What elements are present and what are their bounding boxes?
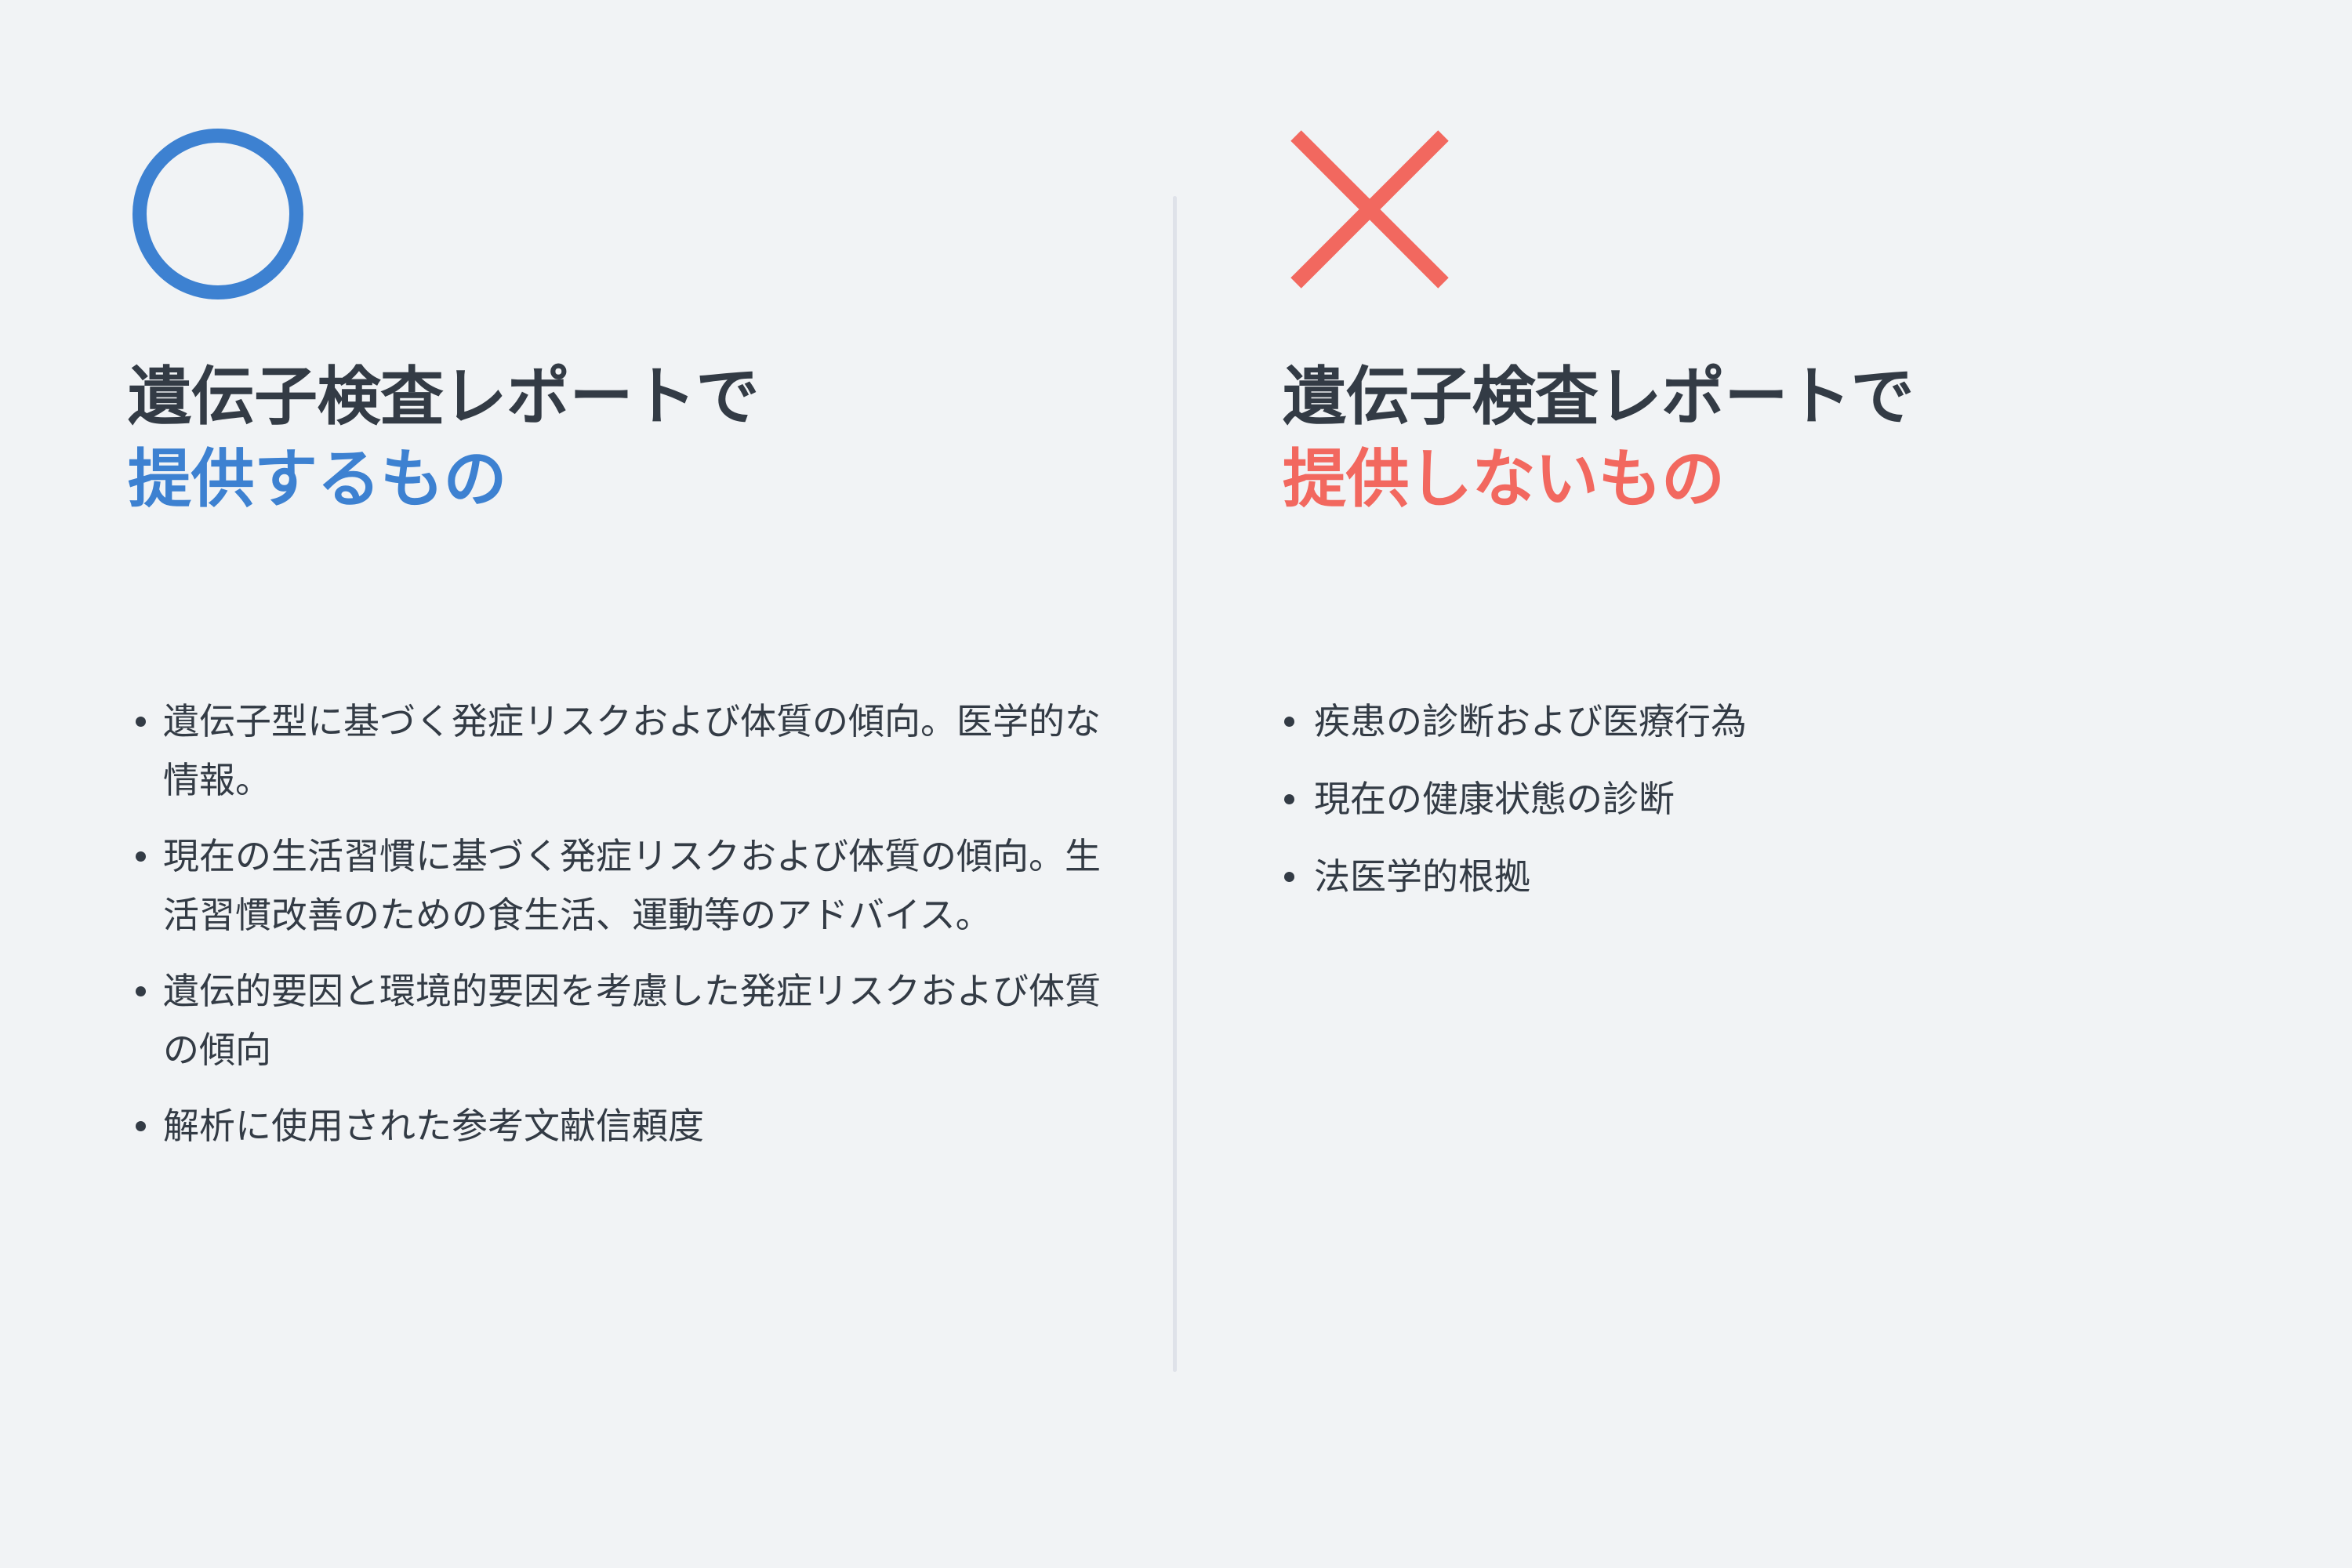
heading-line-accent-positive: 提供するもの (128, 439, 759, 521)
list-item: 遺伝子型に基づく発症リスクおよび体質の傾向。医学的な情報。 (125, 692, 1117, 810)
provided-items-list: 遺伝子型に基づく発症リスクおよび体質の傾向。医学的な情報。 現在の生活習慣に基づ… (125, 692, 1117, 1173)
column-divider (1173, 196, 1177, 1372)
heading-line-accent-negative: 提供しないもの (1283, 439, 1914, 521)
list-item: 疾患の診断および医療行為 (1278, 692, 2270, 751)
list-item-label: 現在の生活習慣に基づく発症リスクおよび体質の傾向。生活習慣改善のための食生活、運… (163, 827, 1117, 945)
circle-outline-icon (129, 125, 307, 303)
bullet-dot-icon (136, 986, 146, 996)
list-item-label: 法医学的根拠 (1314, 848, 2270, 906)
list-item: 現在の生活習慣に基づく発症リスクおよび体質の傾向。生活習慣改善のための食生活、運… (125, 827, 1117, 945)
list-item: 遺伝的要因と環境的要因を考慮した発症リスクおよび体質の傾向 (125, 962, 1117, 1080)
page-title-positive: 遺伝子検査レポートで 提供するもの (128, 357, 759, 522)
list-item-label: 解析に使用された参考文献信頼度 (163, 1097, 1117, 1156)
bullet-dot-icon (136, 851, 146, 862)
bullet-dot-icon (136, 1121, 146, 1131)
heading-line-primary-positive: 遺伝子検査レポートで (128, 357, 759, 439)
cross-x-icon (1286, 125, 1454, 293)
bullet-dot-icon (136, 717, 146, 727)
list-item-label: 遺伝子型に基づく発症リスクおよび体質の傾向。医学的な情報。 (163, 692, 1117, 810)
list-item: 解析に使用された参考文献信頼度 (125, 1097, 1117, 1156)
list-item-label: 遺伝的要因と環境的要因を考慮した発症リスクおよび体質の傾向 (163, 962, 1117, 1080)
bullet-dot-icon (1284, 717, 1294, 727)
list-item-label: 疾患の診断および医療行為 (1314, 692, 2270, 751)
page-title-negative: 遺伝子検査レポートで 提供しないもの (1283, 357, 1914, 522)
bullet-dot-icon (1284, 794, 1294, 804)
list-item-label: 現在の健康状態の診断 (1314, 770, 2270, 829)
comparison-panel: 遺伝子検査レポートで 提供するもの 遺伝子型に基づく発症リスクおよび体質の傾向。… (0, 0, 2352, 1568)
bullet-dot-icon (1284, 872, 1294, 882)
heading-line-primary-negative: 遺伝子検査レポートで (1283, 357, 1914, 439)
list-item: 法医学的根拠 (1278, 848, 2270, 906)
list-item: 現在の健康状態の診断 (1278, 770, 2270, 829)
not-provided-items-list: 疾患の診断および医療行為 現在の健康状態の診断 法医学的根拠 (1278, 692, 2270, 925)
